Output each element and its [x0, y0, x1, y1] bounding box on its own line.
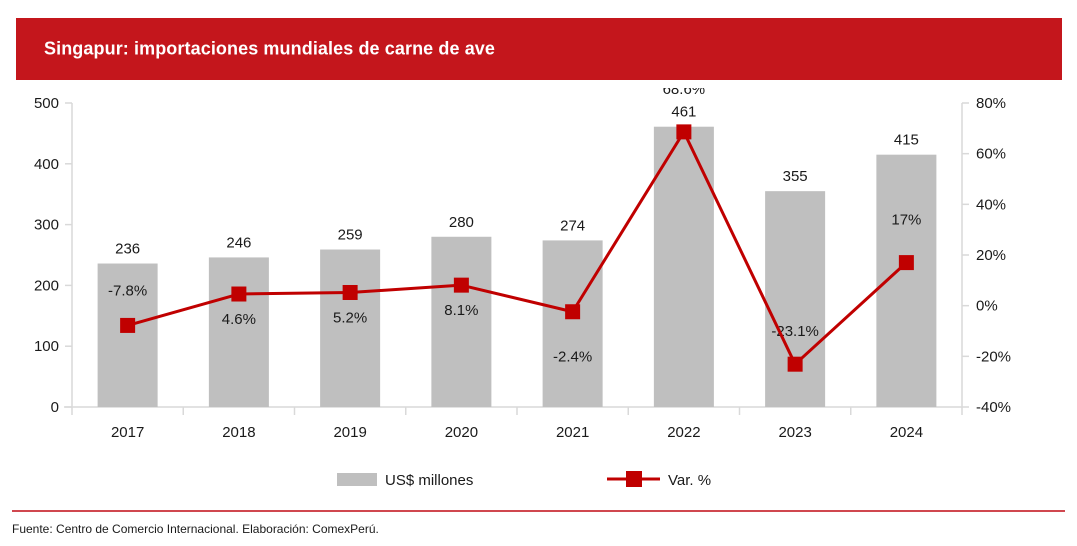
chart-container: 0100200300400500-40%-20%0%20%40%60%80%23…: [0, 88, 1077, 488]
left-axis-tick-label: 500: [34, 95, 59, 112]
x-axis-category-label: 2020: [445, 424, 478, 441]
combo-chart: 0100200300400500-40%-20%0%20%40%60%80%23…: [0, 88, 1077, 488]
legend-swatch-bar: [337, 473, 377, 486]
variation-marker[interactable]: [788, 357, 803, 372]
left-axis-tick-label: 100: [34, 338, 59, 355]
legend-label-variation: Var. %: [668, 472, 711, 488]
variation-marker[interactable]: [454, 278, 469, 293]
legend-label-bar: US$ millones: [385, 472, 473, 488]
x-axis-category-label: 2019: [333, 424, 366, 441]
bar[interactable]: [654, 127, 714, 407]
left-axis-tick-label: 300: [34, 217, 59, 234]
left-axis-tick-label: 0: [51, 399, 59, 416]
bar[interactable]: [765, 191, 825, 407]
right-axis-tick-label: 0%: [976, 298, 998, 315]
bar-value-label: 280: [449, 214, 474, 231]
page-title: Singapur: importaciones mundiales de car…: [44, 39, 495, 60]
right-axis-tick-label: 60%: [976, 146, 1006, 163]
right-axis-tick-label: 80%: [976, 95, 1006, 112]
right-axis-tick-label: 20%: [976, 247, 1006, 264]
variation-label: 5.2%: [333, 309, 367, 326]
x-axis-category-label: 2023: [778, 424, 811, 441]
variation-label: -2.4%: [553, 349, 592, 366]
variation-label: 68.6%: [663, 88, 706, 98]
bar-value-label: 415: [894, 132, 919, 149]
left-axis-tick-label: 200: [34, 277, 59, 294]
bar[interactable]: [209, 257, 269, 407]
header-banner: Singapur: importaciones mundiales de car…: [16, 18, 1062, 80]
variation-marker[interactable]: [565, 304, 580, 319]
x-axis-category-label: 2018: [222, 424, 255, 441]
bar-value-label: 236: [115, 241, 140, 258]
source-note: Fuente: Centro de Comercio Internacional…: [12, 522, 379, 536]
chart-page: Singapur: importaciones mundiales de car…: [0, 0, 1077, 546]
variation-label: -7.8%: [108, 282, 147, 299]
variation-label: 17%: [891, 212, 921, 229]
variation-marker[interactable]: [120, 318, 135, 333]
bar-value-label: 355: [783, 168, 808, 185]
bar-value-label: 274: [560, 217, 585, 234]
bar[interactable]: [320, 250, 380, 407]
right-axis-tick-label: -40%: [976, 399, 1011, 416]
x-axis-category-label: 2021: [556, 424, 589, 441]
legend-marker-variation: [626, 471, 642, 487]
variation-label: 4.6%: [222, 311, 256, 328]
x-axis-category-label: 2017: [111, 424, 144, 441]
variation-marker[interactable]: [676, 124, 691, 139]
bar[interactable]: [543, 240, 603, 407]
footer-divider: [12, 510, 1065, 512]
bar-value-label: 246: [226, 234, 251, 251]
bar-value-label: 259: [338, 227, 363, 244]
left-axis-tick-label: 400: [34, 156, 59, 173]
right-axis-tick-label: -20%: [976, 348, 1011, 365]
variation-label: 8.1%: [444, 302, 478, 319]
variation-marker[interactable]: [231, 287, 246, 302]
x-axis-category-label: 2024: [890, 424, 923, 441]
bar[interactable]: [431, 237, 491, 407]
bar-value-label: 461: [671, 104, 696, 121]
variation-marker[interactable]: [899, 255, 914, 270]
variation-marker[interactable]: [343, 285, 358, 300]
right-axis-tick-label: 40%: [976, 196, 1006, 213]
x-axis-category-label: 2022: [667, 424, 700, 441]
